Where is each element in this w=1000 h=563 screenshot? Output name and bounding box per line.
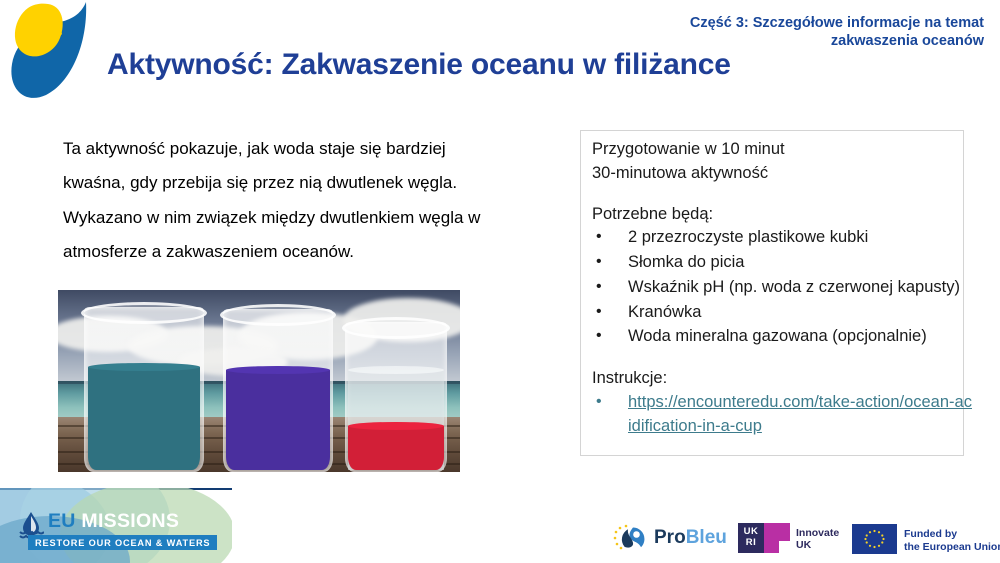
probleu-swirl-icon — [612, 524, 652, 554]
instructions-list: • https://encounteredu.com/take-action/o… — [592, 391, 972, 439]
intro-line-2: kwaśna, gdy przebija się przez nią dwutl… — [63, 173, 457, 192]
probleu-wordmark-part1: Pro — [654, 527, 686, 548]
list-item-label: Kranówka — [628, 303, 701, 321]
innovate-uk-logo: UK RI Innovate UK — [738, 523, 858, 555]
eu-missions-title-part1: EU — [48, 510, 76, 532]
prep-line-2: 30-minutowa aktywność — [592, 162, 972, 186]
funded-by-eu-label-line2: the European Union — [904, 541, 1000, 554]
eu-missions-subtitle: RESTORE OUR OCEAN & WATERS — [28, 535, 217, 550]
list-item-label: Słomka do picia — [628, 253, 744, 271]
bullet-icon: • — [596, 275, 602, 298]
bullet-icon: • — [596, 390, 602, 413]
eu-missions-title: EU MISSIONS — [48, 510, 179, 533]
section-eyebrow: Część 3: Szczegółowe informacje na temat… — [544, 14, 984, 50]
list-item: • 2 przezroczyste plastikowe kubki — [592, 226, 972, 250]
materials-heading: Potrzebne będą: — [592, 203, 972, 227]
probleu-logo: ProBleu — [612, 524, 724, 554]
bullet-icon: • — [596, 225, 602, 248]
activity-photo — [58, 290, 460, 472]
funded-by-eu-label-line1: Funded by — [904, 528, 1000, 541]
cup-purple — [223, 309, 333, 472]
intro-line-3: Wykazano w nim związek między dwutlenkie… — [63, 208, 480, 227]
bullet-icon: • — [596, 300, 602, 323]
ukri-letters-line2: RI — [739, 537, 763, 548]
funded-by-eu-label: Funded by the European Union — [904, 528, 1000, 553]
ukri-letters: UK RI — [739, 526, 763, 548]
bullet-icon: • — [596, 324, 602, 347]
eu-flag-icon — [852, 524, 897, 554]
innovate-uk-label: Innovate UK — [796, 527, 839, 551]
probleu-wordmark-part2: Bleu — [686, 527, 727, 548]
innovate-uk-label-line1: Innovate — [796, 527, 839, 539]
list-item-label: Woda mineralna gazowana (opcjonalnie) — [628, 327, 927, 345]
spacer — [592, 186, 972, 203]
eu-missions-title-part2: MISSIONS — [81, 510, 179, 532]
innovate-uk-label-line2: UK — [796, 539, 839, 551]
funded-by-eu-logo: Funded by the European Union — [852, 523, 992, 555]
intro-line-1: Ta aktywność pokazuje, jak woda staje si… — [63, 139, 446, 158]
intro-line-4: atmosferze a zakwaszeniem oceanów. — [63, 242, 354, 261]
list-item: • Woda mineralna gazowana (opcjonalnie) — [592, 325, 972, 349]
page-title: Aktywność: Zakwaszenie oceanu w filiżanc… — [107, 48, 731, 82]
probleu-wordmark: ProBleu — [654, 527, 727, 549]
materials-list: • 2 przezroczyste plastikowe kubki • Sło… — [592, 226, 972, 349]
intro-paragraph: Ta aktywność pokazuje, jak woda staje si… — [63, 132, 543, 269]
eu-mission-droplet-logo — [8, 0, 100, 100]
cup-teal — [84, 307, 204, 472]
list-item: • https://encounteredu.com/take-action/o… — [592, 391, 972, 439]
eyebrow-line-1: Część 3: Szczegółowe informacje na temat — [690, 15, 984, 31]
list-item: • Wskaźnik pH (np. woda z czerwonej kapu… — [592, 276, 972, 300]
cup-red — [345, 322, 447, 472]
eu-missions-logo: EU MISSIONS RESTORE OUR OCEAN & WATERS — [0, 488, 232, 563]
bullet-icon: • — [596, 250, 602, 273]
ukri-badge-icon: UK RI — [738, 523, 790, 553]
instructions-heading: Instrukcje: — [592, 367, 972, 391]
list-item: • Kranówka — [592, 301, 972, 325]
materials-info-content: Przygotowanie w 10 minut 30-minutowa akt… — [592, 138, 972, 439]
prep-line-1: Przygotowanie w 10 minut — [592, 138, 972, 162]
spacer — [592, 350, 972, 367]
list-item-label: 2 przezroczyste plastikowe kubki — [628, 228, 868, 246]
ukri-letters-line1: UK — [739, 526, 763, 537]
instructions-link[interactable]: https://encounteredu.com/take-action/oce… — [628, 393, 972, 435]
list-item-label: Wskaźnik pH (np. woda z czerwonej kapust… — [628, 278, 960, 296]
slide-canvas: Część 3: Szczegółowe informacje na temat… — [0, 0, 1000, 563]
list-item: • Słomka do picia — [592, 251, 972, 275]
